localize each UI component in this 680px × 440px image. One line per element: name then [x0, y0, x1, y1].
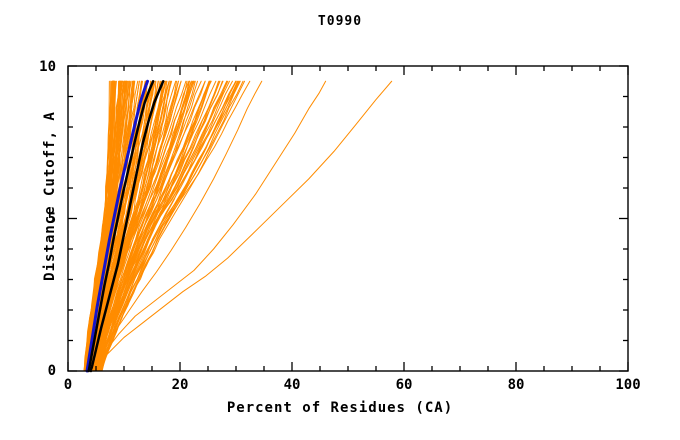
x-tick-label-100: 100 [615, 377, 640, 393]
y-tick-label-0: 0 [48, 363, 56, 379]
curves-layer [84, 81, 392, 371]
x-tick-label-0: 0 [64, 377, 72, 393]
x-tick-label-80: 80 [508, 377, 525, 393]
y-tick-labels: 0 5 10 [16, 0, 56, 440]
plot-canvas [0, 0, 680, 440]
x-tick-label-60: 60 [396, 377, 413, 393]
y-tick-label-10: 10 [39, 59, 56, 75]
y-tick-label-5: 5 [48, 211, 56, 227]
chart-figure: T0990 Percent of Residues (CA) Distance … [0, 0, 680, 440]
x-axis-label: Percent of Residues (CA) [0, 400, 680, 416]
x-tick-label-20: 20 [172, 377, 189, 393]
x-tick-label-40: 40 [284, 377, 301, 393]
